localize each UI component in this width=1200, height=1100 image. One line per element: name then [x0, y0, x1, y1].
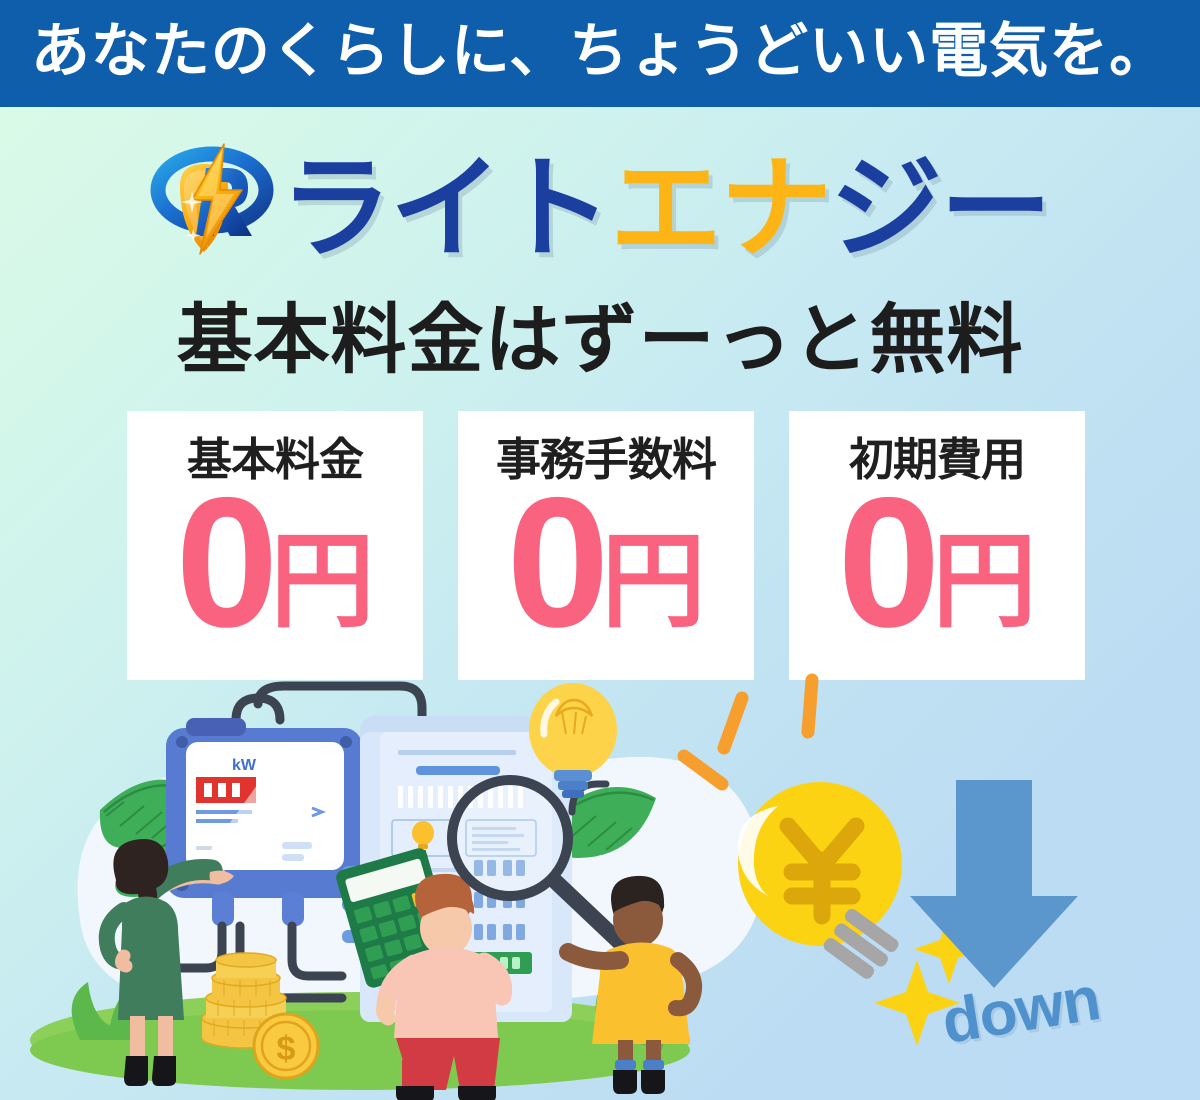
brand-name: ライトエナジー: [280, 153, 1050, 265]
meter-unit-label: kW: [232, 757, 257, 774]
brand-segment-2: エナ: [610, 146, 830, 271]
price-amount: 0: [507, 488, 604, 640]
down-arrow-icon: [910, 780, 1078, 988]
lightning-r-logo-icon: [150, 138, 274, 288]
price-card-value: 0円: [507, 488, 706, 640]
price-amount: 0: [838, 488, 935, 640]
tagline-bar: あなたのくらしに、ちょうどいい電気を。: [0, 0, 1200, 107]
price-card-value: 0円: [838, 488, 1037, 640]
tagline-text: あなたのくらしに、ちょうどいい電気を。: [31, 22, 1169, 81]
subtitle-text: 基本料金はずーっと無料: [0, 303, 1200, 379]
coin-symbol: $: [277, 1030, 296, 1068]
price-amount: 0: [176, 488, 273, 640]
brand-row: ライトエナジー: [0, 125, 1200, 300]
price-card-value: 0円: [176, 488, 375, 640]
brand-segment-1: ライト: [280, 146, 610, 271]
promo-banner: あなたのくらしに、ちょうどいい電気を。: [0, 0, 1200, 1100]
brand-segment-3: ジー: [830, 146, 1050, 271]
